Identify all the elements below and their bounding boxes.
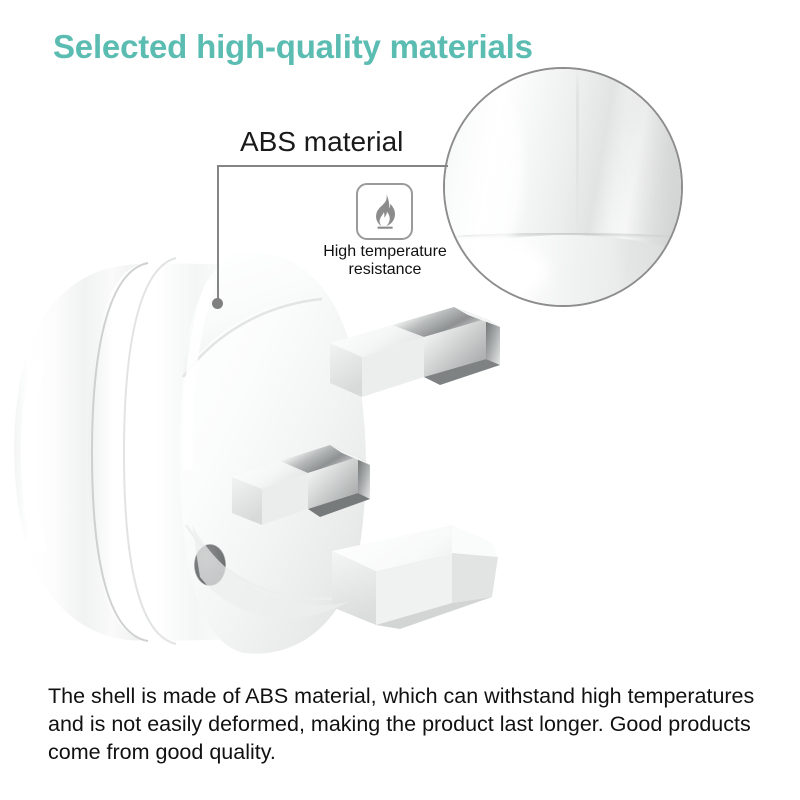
neutral-pin-metal-end — [358, 457, 370, 499]
flame-caption-line-2: resistance — [305, 261, 465, 279]
zoom-right-shading — [613, 75, 683, 305]
description-paragraph: The shell is made of ABS material, which… — [48, 682, 760, 766]
shell-surface-zoom-circle — [443, 67, 683, 307]
product-feature-banner: Selected high-quality materials — [0, 0, 800, 800]
zoom-gloss-highlight — [461, 79, 523, 255]
zoom-gloss-highlight-secondary — [469, 245, 549, 297]
earth-pin-tip-top — [452, 525, 498, 557]
earth-pin-tip-face — [452, 553, 498, 603]
callout-leader-dot — [212, 298, 223, 309]
callout-leader-vertical — [217, 165, 219, 304]
callout-leader-horizontal — [217, 165, 448, 167]
flame-icon-badge — [356, 183, 413, 240]
flame-badge-caption: High temperature resistance — [305, 243, 465, 279]
zoom-shell-edge-line — [576, 67, 579, 241]
flame-caption-line-1: High temperature — [305, 243, 465, 261]
flame-icon — [367, 193, 403, 231]
abs-material-label: ABS material — [240, 126, 403, 158]
page-title: Selected high-quality materials — [53, 28, 533, 66]
